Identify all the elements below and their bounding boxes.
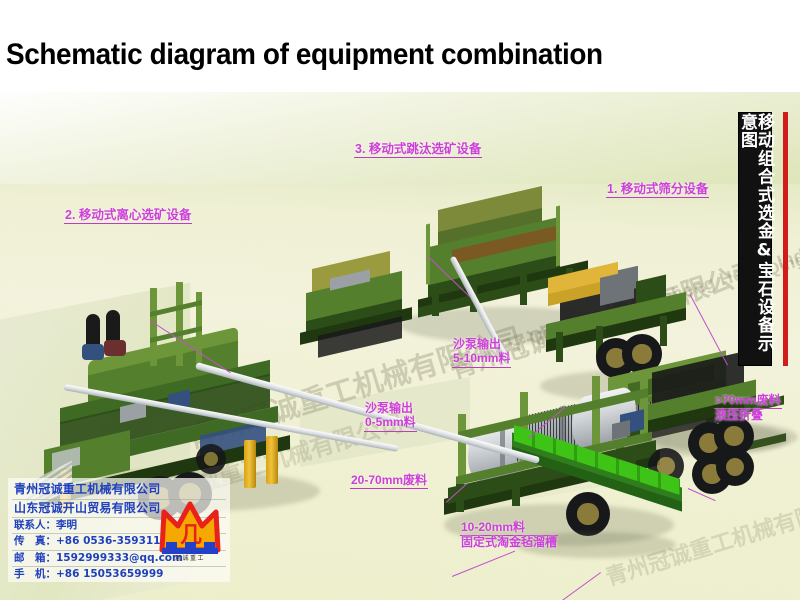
logo-caption: 冠诚重工 [158, 553, 222, 562]
annotation-text-line2: 固定式淘金毡溜槽 [460, 536, 558, 550]
annotation-text-line2: 0-5mm料 [364, 416, 417, 431]
contact-email-label: 邮 箱： [14, 552, 56, 564]
crown-icon: 几 [158, 500, 222, 556]
contact-person-value: 李明 [56, 519, 77, 531]
contact-fax-value: +86 0536-3593111 [56, 535, 168, 547]
annotation-text-line1: 20-70mm废料 [350, 474, 428, 489]
annotation-sand-pump-0-5: 沙泵输出 0-5mm料 [364, 402, 417, 432]
vertical-red-bar [783, 112, 788, 366]
diagram-canvas: Schematic diagram of equipment combinati… [0, 0, 800, 600]
contact-mobile-row: 手 机：+86 15053659999 [12, 567, 226, 582]
annotation-waste-20-70: 20-70mm废料 [350, 474, 428, 489]
annotation-text-line2: 液压折叠 [714, 409, 782, 423]
contact-mobile-label: 手 机： [14, 568, 56, 580]
company-logo: 几 冠诚重工 [158, 500, 222, 562]
annotation-label-2-centrifugal: 2. 移动式离心选矿设备 [64, 208, 192, 224]
page-title: Schematic diagram of equipment combinati… [6, 38, 603, 72]
annotation-text: 1. 移动式筛分设备 [606, 182, 709, 198]
annotation-waste-over-70: >70mm废料 液压折叠 [714, 394, 782, 424]
contact-company-1: 青州冠诚重工机械有限公司 [12, 481, 226, 500]
vertical-title-text: 移动组合式选金&宝石设备示意图 [738, 113, 772, 365]
annotation-text: 2. 移动式离心选矿设备 [64, 208, 192, 224]
annotation-label-1-screening: 1. 移动式筛分设备 [606, 182, 709, 198]
annotation-sand-pump-5-10: 沙泵输出 5-10mm料 [452, 338, 511, 368]
annotation-sluice-10-20: 10-20mm料 固定式淘金毡溜槽 [460, 521, 558, 551]
annotation-label-3-jig: 3. 移动式跳汰选矿设备 [354, 142, 482, 158]
vertical-title-banner: 移动组合式选金&宝石设备示意图 [738, 112, 772, 366]
contact-fax-label: 传 真： [14, 535, 56, 547]
annotation-text-line2: 5-10mm料 [452, 352, 511, 367]
contact-mobile-value: +86 15053659999 [56, 568, 163, 580]
contact-person-label: 联系人： [14, 519, 56, 531]
annotation-text: 3. 移动式跳汰选矿设备 [354, 142, 482, 158]
